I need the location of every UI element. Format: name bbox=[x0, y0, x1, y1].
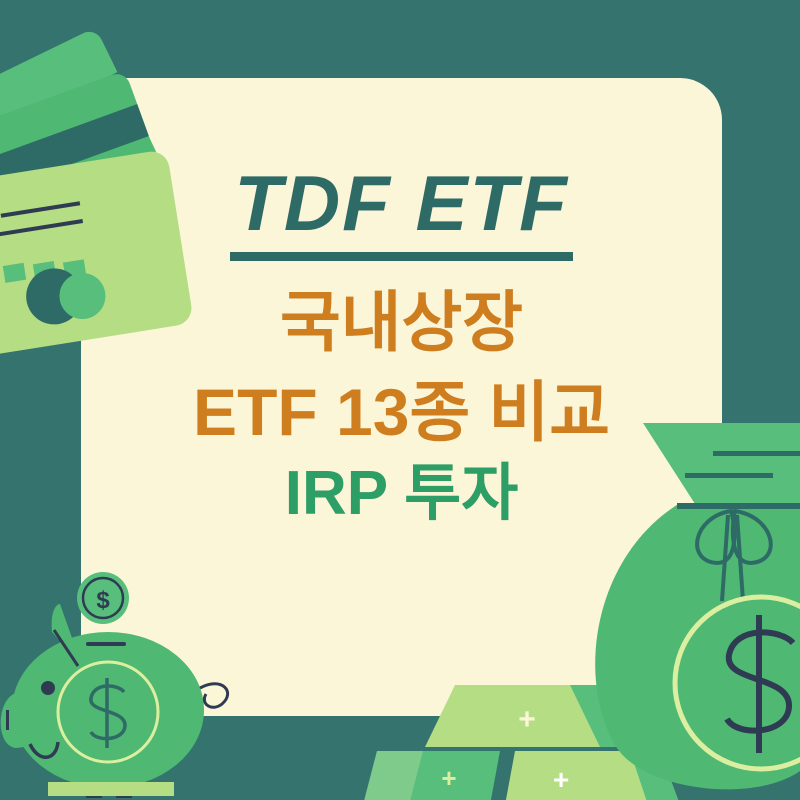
piggy-ground bbox=[48, 782, 174, 796]
text-block: TDF ETF 국내상장 ETF 13종 비교 IRP 투자 bbox=[81, 78, 722, 716]
gold-bar-left: + bbox=[363, 751, 500, 800]
subtitle-line-3: IRP 투자 bbox=[285, 463, 519, 525]
poster-canvas: + + + $ bbox=[0, 0, 800, 800]
subtitle-line-1: 국내상장 bbox=[280, 289, 523, 355]
bag-line-1 bbox=[713, 451, 800, 456]
piggy-nostril bbox=[6, 710, 9, 730]
svg-text:+: + bbox=[553, 764, 569, 795]
page-title: TDF ETF bbox=[230, 164, 573, 261]
subtitle-line-2: ETF 13종 비교 bbox=[193, 379, 610, 445]
svg-text:+: + bbox=[441, 763, 456, 793]
piggy-eye bbox=[41, 681, 55, 695]
piggy-snout bbox=[1, 692, 32, 748]
